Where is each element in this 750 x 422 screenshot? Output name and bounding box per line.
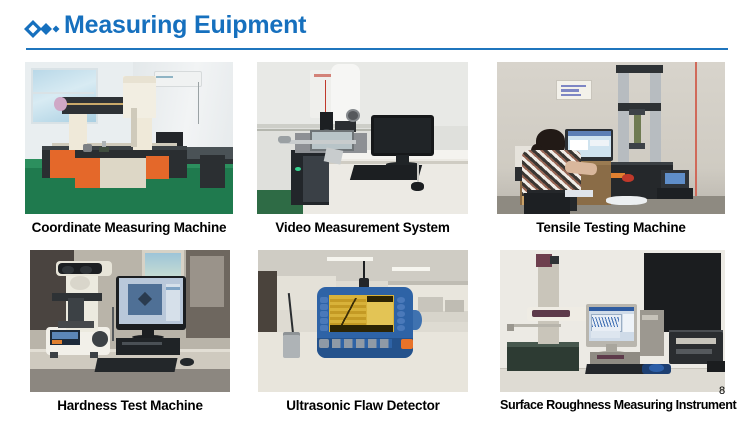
caption-coordinate-measuring-machine: Coordinate Measuring Machine: [25, 220, 233, 235]
slide-header: Measuring Euipment: [0, 0, 750, 54]
double-diamond-bullet-icon: [24, 20, 60, 38]
gallery-item-surface-roughness-measuring-instrument[interactable]: Surface Roughness Measuring Instrument: [500, 250, 730, 418]
gallery-item-ultrasonic-flaw-detector[interactable]: Ultrasonic Flaw Detector: [258, 250, 468, 418]
equipment-gallery: Coordinate Measuring Machine Video Measu…: [0, 54, 750, 422]
gallery-item-video-measurement-system[interactable]: Video Measurement System: [257, 62, 468, 242]
title-underline-rule: [26, 48, 728, 50]
caption-ultrasonic-flaw-detector: Ultrasonic Flaw Detector: [258, 398, 468, 413]
caption-surface-roughness-measuring-instrument: Surface Roughness Measuring Instrument: [500, 398, 730, 412]
gallery-item-tensile-testing-machine[interactable]: Tensile Testing Machine: [497, 62, 725, 242]
caption-video-measurement-system: Video Measurement System: [257, 220, 468, 235]
video-measurement-system-photo: [257, 62, 468, 214]
caption-tensile-testing-machine: Tensile Testing Machine: [497, 220, 725, 235]
page-title: Measuring Euipment: [64, 11, 306, 40]
ultrasonic-flaw-detector-photo: [258, 250, 468, 392]
hardness-test-machine-photo: [30, 250, 230, 392]
caption-hardness-test-machine: Hardness Test Machine: [30, 398, 230, 413]
mitutoyo-brand-mark: [527, 355, 554, 362]
gallery-item-coordinate-measuring-machine[interactable]: Coordinate Measuring Machine: [25, 62, 233, 242]
gallery-item-hardness-test-machine[interactable]: Hardness Test Machine: [30, 250, 230, 418]
tensile-testing-machine-photo: [497, 62, 725, 214]
page-number: 8: [712, 385, 732, 397]
surface-roughness-measuring-instrument-photo: [500, 250, 725, 392]
coordinate-measuring-machine-photo: [25, 62, 233, 214]
